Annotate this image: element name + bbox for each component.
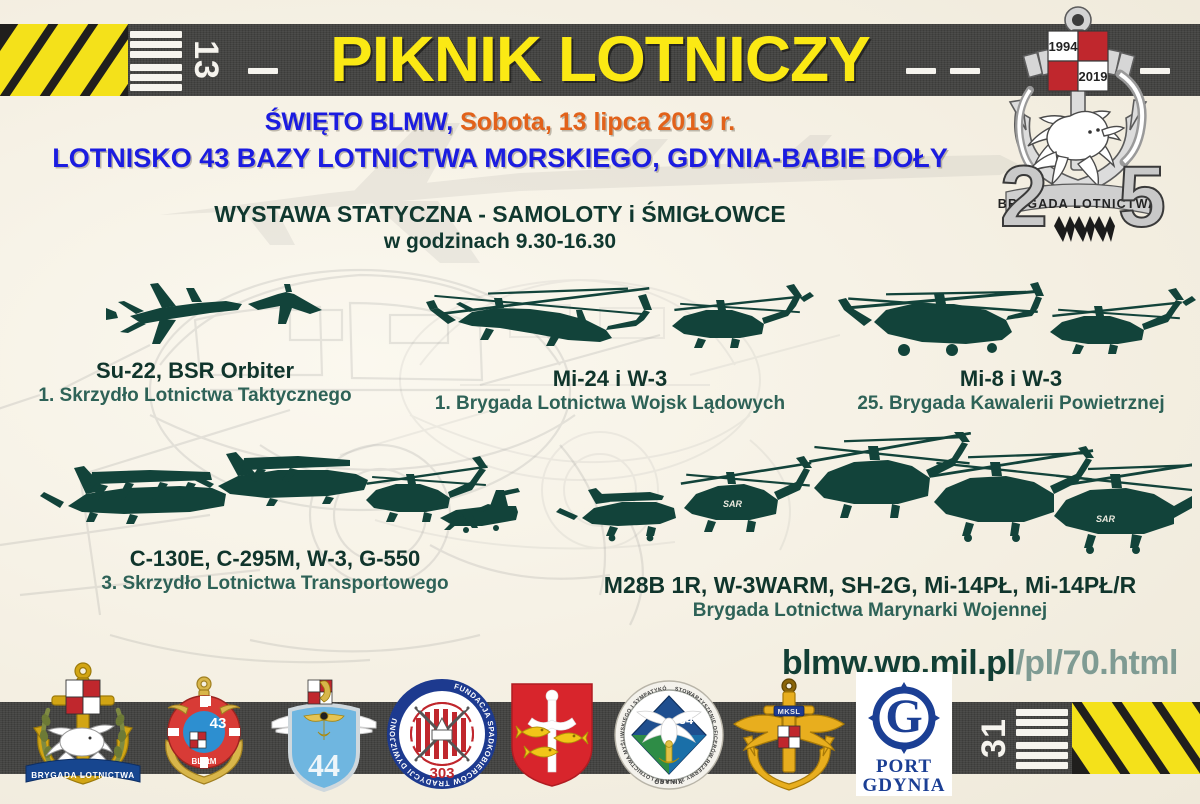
logo-34-plmw-gdynia: 34 STOWARZYSZENIE OFICERÓW REZERWY 34 PU… <box>614 680 724 790</box>
44-shield-wings-icon: 44 <box>268 674 380 792</box>
logo-8-sub: GDYNIA <box>862 775 945 796</box>
aircraft-group-3-unit: 25. Brygada Kawalerii Powietrznej <box>826 392 1196 416</box>
anniversary-emblem-25-icon: 1994 2019 BRYGADA LOTNICTWA 2 5 <box>970 4 1186 254</box>
port-gdynia-logo-icon: G PORT GDYNIA <box>856 672 952 796</box>
event-location-label: LOTNISKO 43 BAZY LOTNICTWA MORSKIEGO, GD… <box>0 142 1000 174</box>
aircraft-group-3-name: Mi-8 i W-3 <box>826 365 1196 392</box>
poster-canvas: 13 PIKNIK LOTNICZY <box>0 0 1200 804</box>
logo-1-caption: BRYGADA LOTNICTWA <box>31 771 135 780</box>
logo-8-caption: PORT <box>876 756 932 777</box>
aircraft-group-1-name: Su-22, BSR Orbiter <box>10 357 380 384</box>
aircraft-group-5-unit: Brygada Lotnictwa Marynarki Wojennej <box>548 599 1192 623</box>
emblem-year-from: 1994 <box>1049 39 1079 54</box>
aircraft-group-2-name: Mi-24 i W-3 <box>400 365 820 392</box>
aircraft-group-2: Mi-24 i W-3 1. Brygada Lotnictwa Wojsk L… <box>400 282 820 416</box>
event-name-label: ŚWIĘTO BLMW, <box>265 108 453 136</box>
mksl-winged-anchor-icon: MKSL <box>730 676 848 792</box>
sar-marking-2: SAR <box>1096 514 1116 524</box>
mi24-w3-silhouettes-icon <box>400 282 820 360</box>
aircraft-group-5: SAR SAR M28B 1R, W-3WARM, SH-2G, Mi-14PŁ… <box>548 432 1192 623</box>
34-plmw-gdynia-badge-icon: 34 STOWARZYSZENIE OFICERÓW REZERWY 34 PU… <box>614 680 724 790</box>
logo-mksl-anchor: MKSL <box>730 676 848 792</box>
aircraft-group-1-unit: 1. Skrzydło Lotnictwa Taktycznego <box>10 384 380 408</box>
sar-marking-1: SAR <box>723 499 743 509</box>
aircraft-group-4-unit: 3. Skrzydło Lotnictwa Transportowego <box>30 572 520 596</box>
logo-gdynia-herb <box>508 680 596 788</box>
emblem-year-to: 2019 <box>1079 69 1108 84</box>
logo-fundacja-dywizjon-303: FUNDACJA SPADKOBIERCÓW TRADYCJI DYWIZJON… <box>386 678 498 790</box>
mw-monogram-icon <box>1054 216 1115 242</box>
sponsor-logos-row: BRYGADA LOTNICTWA <box>0 660 1200 804</box>
emblem-numeral-right: 5 <box>1118 149 1166 245</box>
43-blotm-lifering-icon: 43 BLotM <box>152 674 256 790</box>
event-date-label: Sobota, 13 lipca 2019 r. <box>460 108 735 136</box>
event-headline-line1: ŚWIĘTO BLMW, Sobota, 13 lipca 2019 r. <box>0 107 1000 137</box>
logo-3-number: 44 <box>308 747 340 783</box>
logo-4-sub: 303 <box>429 765 454 782</box>
gdynia-coat-of-arms-icon <box>508 680 596 788</box>
aircraft-group-2-unit: 1. Brygada Lotnictwa Wojsk Lądowych <box>400 392 820 416</box>
naval-aviation-silhouettes-icon: SAR SAR <box>548 432 1192 567</box>
emblem-numeral-left: 2 <box>1000 149 1048 245</box>
logo-6-sub: GDYNIA <box>654 780 683 786</box>
aircraft-group-1: Su-22, BSR Orbiter 1. Skrzydło Lotnictwa… <box>10 272 380 408</box>
logo-7-caption: MKSL <box>778 707 801 716</box>
aircraft-group-4: C-130E, C-295M, W-3, G-550 3. Skrzydło L… <box>30 448 520 596</box>
exhibition-type-label: WYSTAWA STATYCZNA - SAMOLOTY i ŚMIGŁOWCE <box>0 200 1000 228</box>
logo-port-gdynia: G PORT GDYNIA <box>856 672 952 796</box>
aircraft-group-5-name: M28B 1R, W-3WARM, SH-2G, Mi-14PŁ, Mi-14P… <box>548 572 1192 599</box>
su22-orbiter-silhouettes-icon <box>10 272 380 352</box>
logo-43-blotm: 43 BLotM <box>152 674 256 790</box>
exhibition-hours-label: w godzinach 9.30-16.30 <box>0 229 1000 255</box>
aircraft-group-4-name: C-130E, C-295M, W-3, G-550 <box>30 545 520 572</box>
logo-44-blotm: 44 <box>268 674 380 792</box>
transport-aircraft-silhouettes-icon <box>30 448 520 540</box>
brygada-lotnictwa-anchor-icon: BRYGADA LOTNICTWA <box>22 662 144 794</box>
aircraft-group-3: Mi-8 i W-3 25. Brygada Kawalerii Powietr… <box>826 282 1196 416</box>
logo-2-number: 43 <box>210 715 227 732</box>
dywizjon-303-badge-icon: FUNDACJA SPADKOBIERCÓW TRADYCJI DYWIZJON… <box>386 678 498 790</box>
svg-text:G: G <box>885 690 922 743</box>
mi8-w3-silhouettes-icon <box>826 282 1196 360</box>
logo-2-sub: BLotM <box>192 757 217 766</box>
logo-6-number: 34 <box>679 712 694 727</box>
logo-brygada-lotnictwa-mw: BRYGADA LOTNICTWA <box>22 662 144 794</box>
